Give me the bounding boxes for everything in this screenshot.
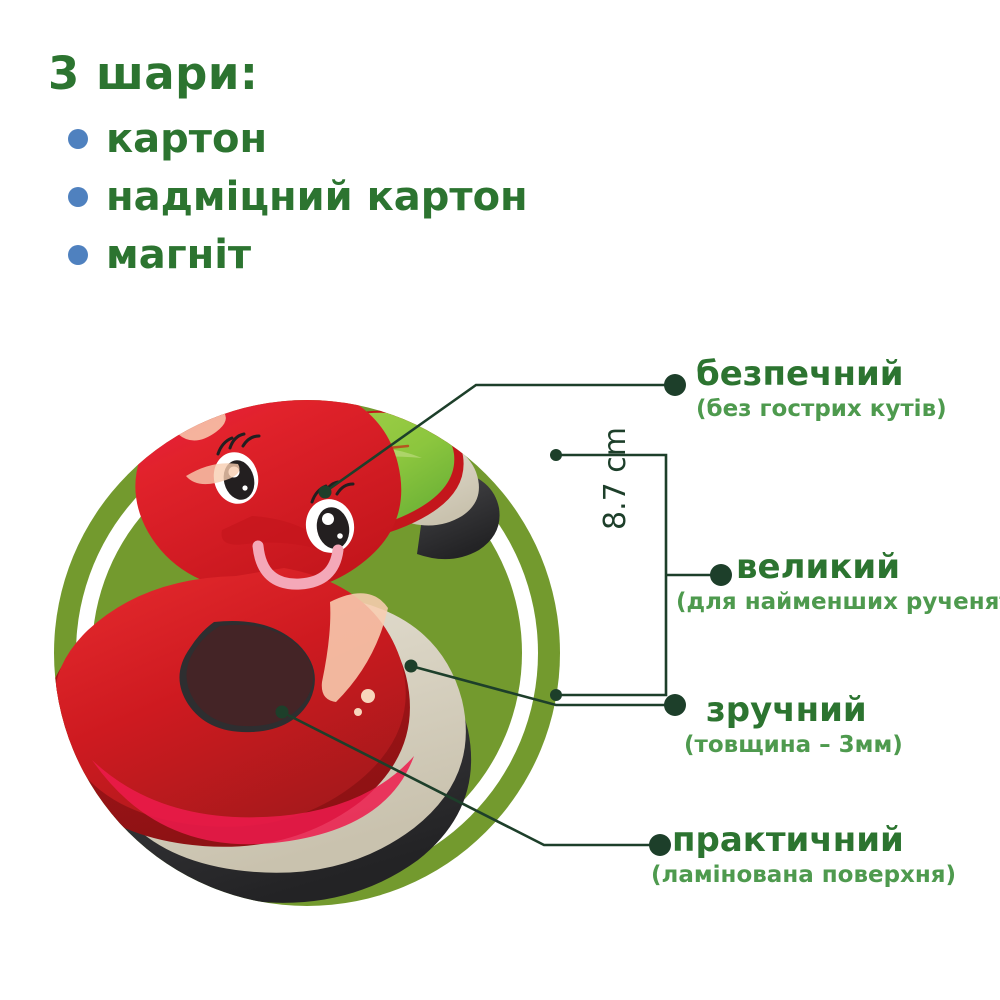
layer-label: надміцний картон xyxy=(106,177,528,217)
callout-subtitle: (без гострих кутів) xyxy=(696,397,947,421)
layer-label: магніт xyxy=(106,235,251,275)
layers-header: 3 шари: картон надміцний картон магніт xyxy=(0,0,640,300)
callout-safe: безпечний (без гострих кутів) xyxy=(696,357,947,421)
dimension-label: 8.7 cm xyxy=(598,427,633,530)
list-item: магніт xyxy=(68,226,628,284)
callout-dot-big xyxy=(710,564,732,586)
layer-label: картон xyxy=(106,119,267,159)
layers-list: картон надміцний картон магніт xyxy=(68,110,628,284)
product-figure xyxy=(0,330,620,950)
callout-dot-practical xyxy=(649,834,671,856)
callout-title: практичний xyxy=(672,823,956,859)
infographic-canvas: 3 шари: картон надміцний картон магніт xyxy=(0,0,1000,1000)
list-item: картон xyxy=(68,110,628,168)
callout-subtitle: (для найменших рученят) xyxy=(676,590,1000,614)
bullet-dot-icon xyxy=(68,245,88,265)
callout-practical: практичний (ламінована поверхня) xyxy=(672,823,956,887)
bullet-dot-icon xyxy=(68,187,88,207)
callout-title: безпечний xyxy=(696,357,947,393)
page-title: 3 шари: xyxy=(48,47,258,100)
callout-subtitle: (товщина – 3мм) xyxy=(684,733,903,757)
callout-dot-comfortable xyxy=(664,694,686,716)
callout-dot-safe xyxy=(664,374,686,396)
callout-title: великий xyxy=(736,550,1000,586)
bullet-dot-icon xyxy=(68,129,88,149)
callout-big: великий (для найменших рученят) xyxy=(736,550,1000,614)
callout-comfortable: зручний (товщина – 3мм) xyxy=(706,693,903,757)
callout-title: зручний xyxy=(706,693,903,729)
callout-subtitle: (ламінована поверхня) xyxy=(651,863,956,887)
list-item: надміцний картон xyxy=(68,168,628,226)
